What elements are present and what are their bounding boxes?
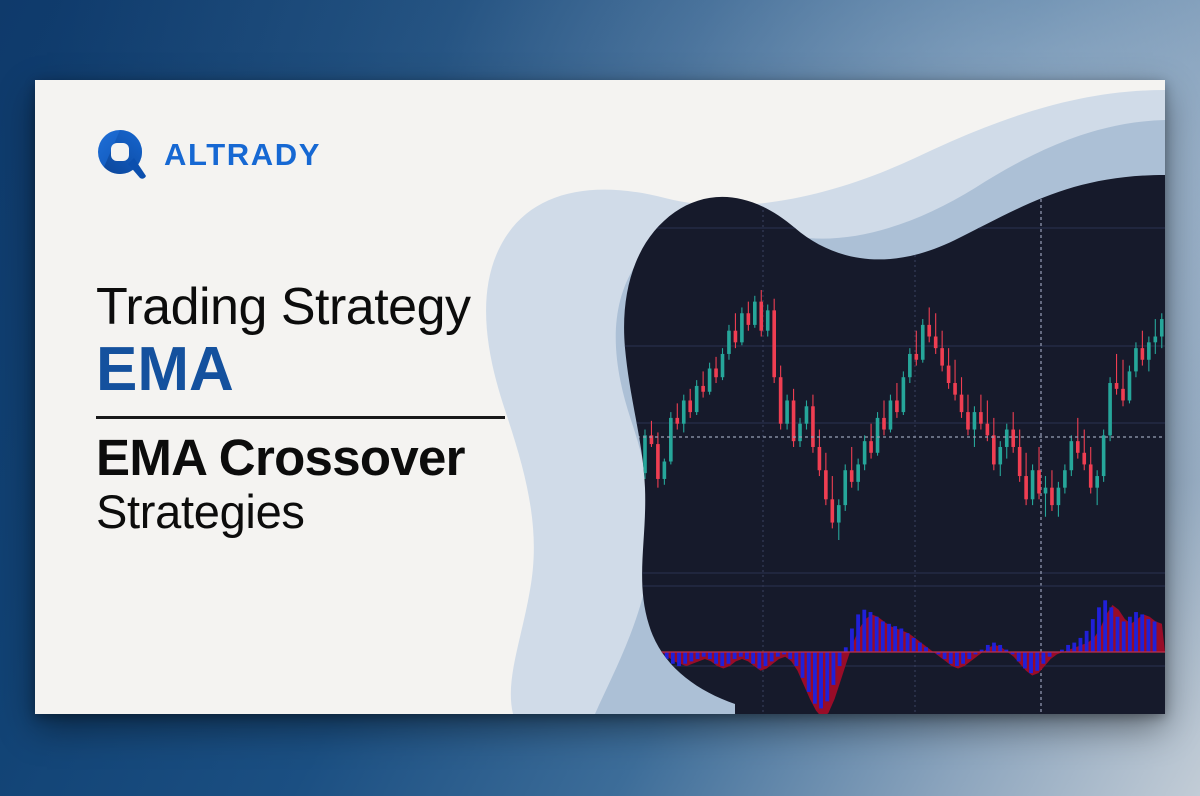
headline-divider [96,416,505,419]
headline-eyebrow: Trading Strategy [96,280,556,335]
text-block: ALTRADY Trading Strategy EMA EMA Crossov… [35,80,555,714]
headline-subtitle: Strategies [96,486,556,538]
altrady-q-logo-icon [96,128,148,180]
brand-wordmark: ALTRADY [164,139,321,170]
brand-logo[interactable]: ALTRADY [96,128,321,180]
headline-group: Trading Strategy EMA EMA Crossover Strat… [96,280,556,537]
headline-title: EMA Crossover [96,431,556,485]
poster-card: ALTRADY Trading Strategy EMA EMA Crossov… [35,80,1165,714]
headline-accent: EMA [96,337,556,404]
